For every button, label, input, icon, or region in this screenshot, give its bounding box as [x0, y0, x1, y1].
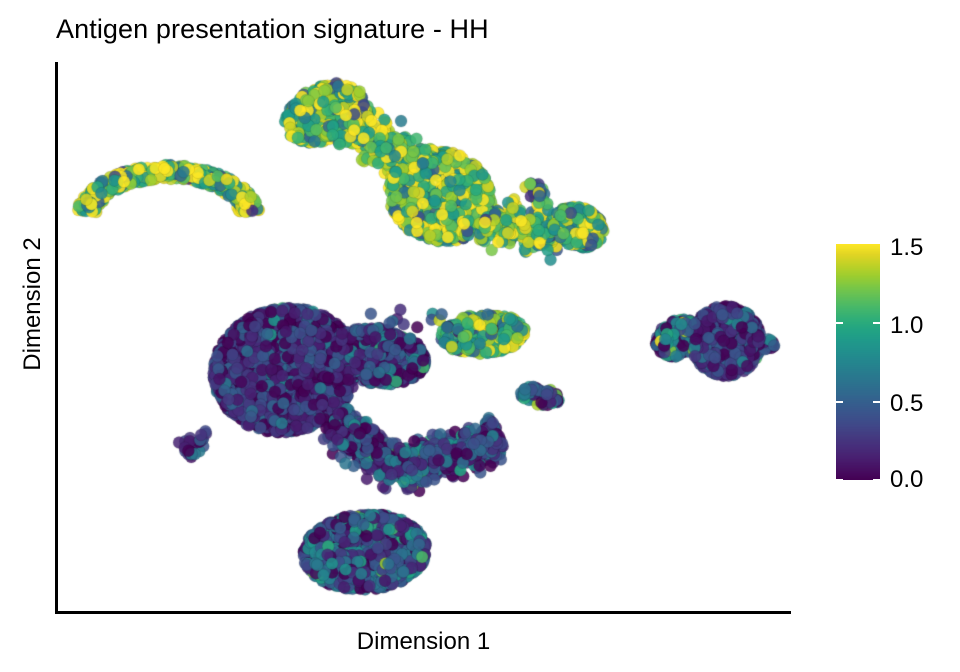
colorbar-tick-1.0-right: [873, 322, 880, 324]
colorbar-label-max: 1.5: [890, 236, 923, 260]
y-axis-label: Dimension 2: [19, 224, 47, 384]
colorbar-label-0.5: 0.5: [890, 392, 923, 416]
colorbar-tick-0.0-right: [873, 479, 880, 481]
scatter-plot-figure: Antigen presentation signature - HH Dime…: [0, 0, 960, 672]
scatter-points-canvas: [58, 62, 791, 612]
colorbar-label-1.0: 1.0: [890, 314, 923, 338]
x-axis-label: Dimension 1: [57, 628, 790, 656]
colorbar-tick-1.0-left: [836, 322, 843, 324]
colorbar-label-min: 0.0: [890, 468, 923, 492]
colorbar-tick-0.0-left: [836, 479, 843, 481]
colorbar-tick-0.5-left: [836, 401, 843, 403]
colorbar: [836, 244, 880, 480]
page-title: Antigen presentation signature - HH: [56, 12, 489, 46]
colorbar-tick-0.5-right: [873, 401, 880, 403]
colorbar-gradient: [836, 244, 880, 480]
